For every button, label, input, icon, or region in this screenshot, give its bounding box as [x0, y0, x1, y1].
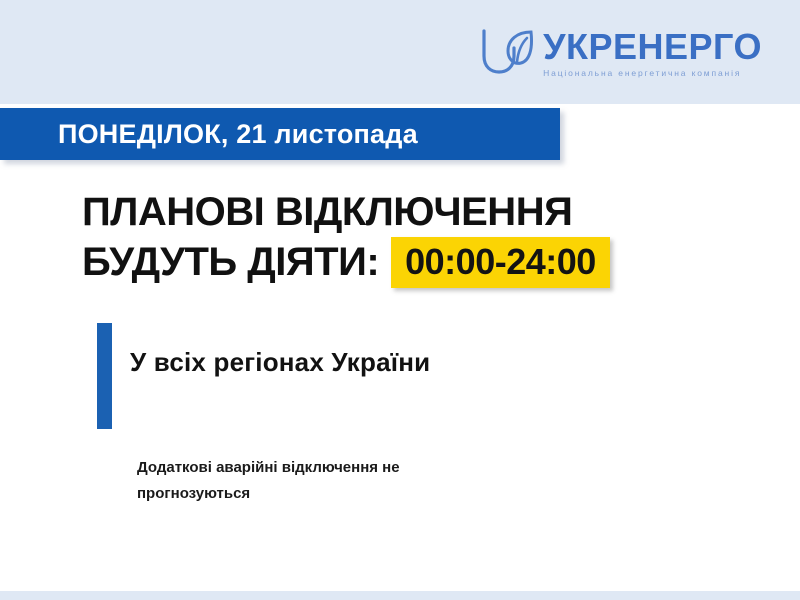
header-bar: УКРЕНЕРГО Національна енергетична компан… — [0, 0, 800, 104]
emergency-outage-note: Додаткові аварійні відключення не прогно… — [137, 455, 497, 507]
logo-text-block: УКРЕНЕРГО Національна енергетична компан… — [543, 26, 762, 79]
region-label: У всіх регіонах України — [130, 347, 430, 378]
infographic-slide: УКРЕНЕРГО Національна енергетична компан… — [0, 0, 800, 600]
region-block: У всіх регіонах України — [97, 323, 430, 429]
headline-line-2-row: БУДУТЬ ДІЯТИ: 00:00-24:00 — [82, 237, 782, 288]
region-accent-bar — [97, 323, 112, 429]
logo-wordmark: УКРЕНЕРГО — [543, 28, 762, 66]
headline-line-2: БУДУТЬ ДІЯТИ: — [82, 238, 379, 287]
date-banner: ПОНЕДІЛОК, 21 листопада — [0, 108, 560, 160]
ukrenergo-leaf-logo-icon — [479, 26, 537, 76]
ukrenergo-logo: УКРЕНЕРГО Національна енергетична компан… — [479, 26, 762, 79]
date-banner-label: ПОНЕДІЛОК, 21 листопада — [58, 119, 418, 150]
headline-line-1: ПЛАНОВІ ВІДКЛЮЧЕННЯ — [82, 188, 782, 237]
headline-block: ПЛАНОВІ ВІДКЛЮЧЕННЯ БУДУТЬ ДІЯТИ: 00:00-… — [82, 188, 782, 288]
logo-subtitle: Національна енергетична компанія — [543, 67, 762, 79]
outage-time-badge: 00:00-24:00 — [391, 237, 610, 288]
bottom-strip — [0, 591, 800, 600]
